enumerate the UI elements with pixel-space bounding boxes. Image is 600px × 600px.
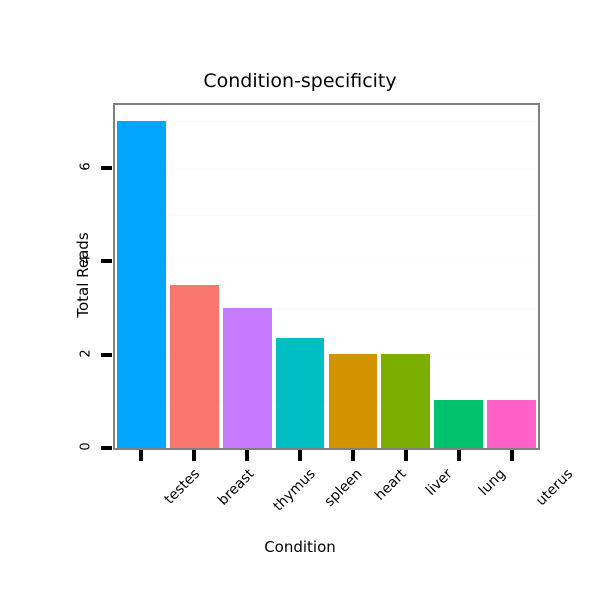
x-tick-mark (404, 450, 408, 461)
y-tick-mark (101, 446, 112, 450)
x-axis-title: Condition (0, 538, 600, 556)
y-tick-mark (101, 259, 112, 263)
x-tick-mark (245, 450, 249, 461)
x-tick-label-liver: liver (423, 466, 456, 499)
bar-heart[interactable] (329, 354, 378, 448)
x-tick-mark (139, 450, 143, 461)
x-tick-label-heart: heart (372, 466, 410, 504)
y-tick-mark (101, 166, 112, 170)
x-tick-label-breast: breast (215, 466, 258, 509)
x-tick-mark (192, 450, 196, 461)
bar-testes[interactable] (117, 121, 166, 448)
x-tick-label-lung: lung (476, 466, 509, 499)
bar-uterus[interactable] (487, 400, 536, 448)
y-tick-mark (101, 353, 112, 357)
bar-lung[interactable] (434, 400, 483, 448)
x-tick-label-uterus: uterus (533, 466, 576, 509)
bar-breast[interactable] (170, 285, 219, 448)
y-tick-label: 6 (79, 156, 94, 178)
bar-spleen[interactable] (276, 338, 325, 448)
y-tick-label: 0 (79, 436, 94, 458)
y-axis-title: Total Reads (74, 195, 92, 355)
bar-liver[interactable] (381, 354, 430, 448)
gridline-minor (115, 121, 538, 122)
chart-title: Condition-specificity (0, 70, 600, 92)
gridline-major (115, 261, 538, 262)
gridline-minor (115, 215, 538, 216)
x-tick-mark (298, 450, 302, 461)
x-tick-mark (457, 450, 461, 461)
x-tick-label-testes: testes (162, 466, 204, 508)
plot-panel (113, 103, 540, 450)
x-tick-mark (510, 450, 514, 461)
x-tick-mark (351, 450, 355, 461)
gridline-major (115, 448, 538, 449)
x-tick-label-thymus: thymus (271, 466, 319, 514)
x-tick-label-spleen: spleen (322, 466, 366, 510)
bar-thymus[interactable] (223, 308, 272, 448)
gridline-major (115, 168, 538, 169)
bar-chart: Condition-specificity 0246 Total Reads t… (0, 0, 600, 600)
